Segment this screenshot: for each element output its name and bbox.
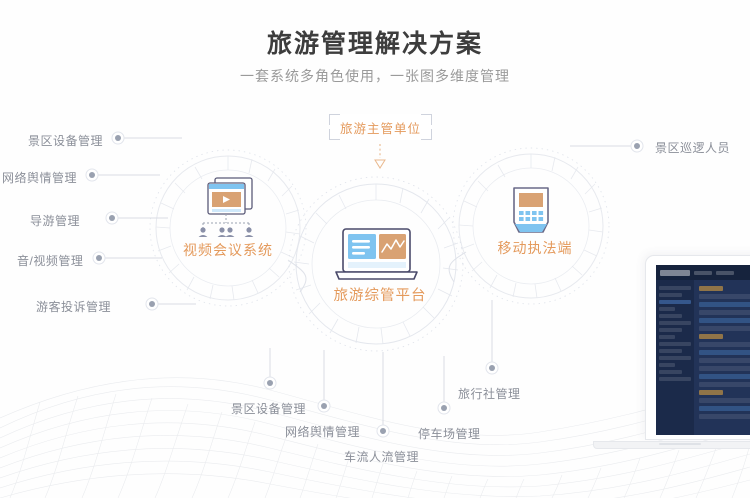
satellite-label-left_labels-2[interactable]: 导游管理 bbox=[30, 212, 80, 229]
bracket-top-right bbox=[421, 114, 432, 125]
dashboard-content bbox=[694, 280, 750, 435]
satellite-label-left_labels-4[interactable]: 游客投诉管理 bbox=[36, 298, 111, 315]
laptop-lid bbox=[645, 255, 750, 440]
laptop-trackpad-notch bbox=[659, 443, 701, 445]
satellite-label-bottom_labels-1[interactable]: 网络舆情管理 bbox=[285, 423, 360, 440]
right-connector-dots bbox=[631, 140, 643, 152]
dashboard-screenshot bbox=[656, 265, 750, 435]
ring-video bbox=[150, 150, 306, 306]
authority-label: 旅游主管单位 bbox=[340, 118, 421, 137]
node-label-video[interactable]: 视频会议系统 bbox=[163, 240, 293, 260]
authority-box[interactable]: 旅游主管单位 bbox=[329, 114, 432, 140]
left-connector-dots bbox=[86, 132, 158, 310]
bracket-bottom-left bbox=[329, 129, 340, 140]
video-conference-icon bbox=[199, 178, 254, 237]
node-label-center[interactable]: 旅游综管平台 bbox=[310, 284, 450, 305]
dashboard-topbar bbox=[656, 265, 750, 280]
solution-diagram-page: 旅游管理解决方案 一套系统多角色使用，一张图多维度管理 bbox=[0, 0, 750, 498]
bracket-bottom-right bbox=[421, 129, 432, 140]
dashboard-sidebar bbox=[656, 280, 694, 435]
satellite-label-bottom_labels-3[interactable]: 停车场管理 bbox=[418, 425, 481, 442]
satellite-label-bottom_labels-0[interactable]: 景区设备管理 bbox=[231, 400, 306, 417]
satellite-label-left_labels-0[interactable]: 景区设备管理 bbox=[28, 132, 103, 149]
satellite-label-right_labels-0[interactable]: 景区巡逻人员 bbox=[655, 139, 730, 156]
node-label-mobile[interactable]: 移动执法端 bbox=[470, 238, 600, 258]
handheld-device-icon bbox=[514, 188, 548, 232]
laptop-platform-icon bbox=[336, 229, 417, 279]
satellite-label-left_labels-3[interactable]: 音/视频管理 bbox=[17, 252, 83, 269]
connector-and-ring-layer bbox=[0, 0, 750, 498]
satellite-label-bottom_labels-4[interactable]: 旅行社管理 bbox=[458, 385, 521, 402]
laptop-mockup bbox=[645, 255, 750, 455]
satellite-label-bottom_labels-2[interactable]: 车流人流管理 bbox=[344, 448, 419, 465]
authority-connector bbox=[375, 144, 385, 168]
dashboard-body bbox=[656, 280, 750, 435]
satellite-label-left_labels-1[interactable]: 网络舆情管理 bbox=[2, 169, 77, 186]
bracket-top-left bbox=[329, 114, 340, 125]
